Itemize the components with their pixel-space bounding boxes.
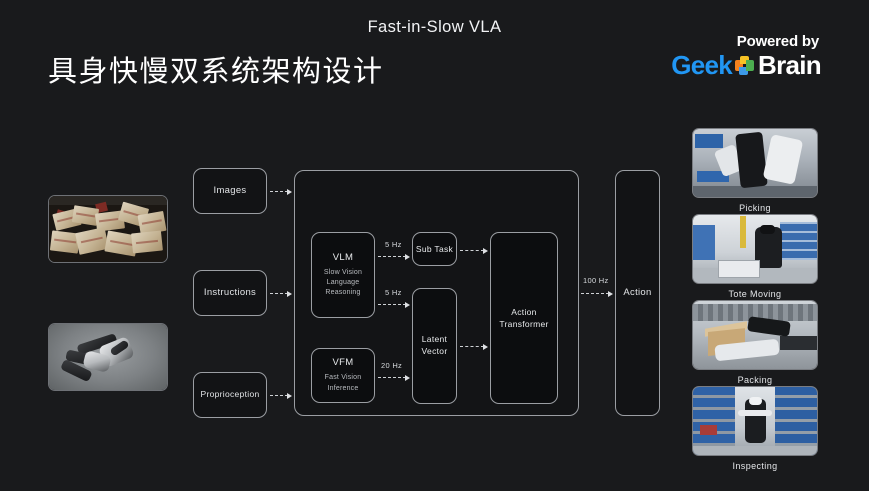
output-label-action: Action (623, 287, 651, 300)
input-box-instructions[interactable]: Instructions (193, 270, 267, 316)
arrow-instructions-to-vla (270, 293, 292, 294)
rate-label-vlm-to-latent-vector: 5 Hz (385, 288, 402, 297)
vfm-title: VFM (333, 357, 354, 368)
task-thumbnail-picking (692, 128, 818, 198)
block-action-transformer[interactable]: Action Transformer (490, 232, 558, 404)
block-vfm[interactable]: VFM Fast Vision Inference (311, 348, 375, 403)
input-label-proprioception: Proprioception (200, 389, 259, 400)
vla-title: Fast-in-Slow VLA (0, 18, 869, 37)
latent-vector-title: Latent Vector (422, 334, 448, 358)
block-vlm[interactable]: VLM Slow Vision Language Reasoning (311, 232, 375, 318)
block-sub-task[interactable]: Sub Task (412, 232, 457, 266)
block-latent-vector[interactable]: Latent Vector (412, 288, 457, 404)
task-caption-tote-moving: Tote Moving (692, 289, 818, 299)
arrow-latent-vector-to-action-transformer (460, 346, 488, 347)
arrow-vlm-to-latent-vector (378, 304, 410, 305)
brand-lockup: Powered by Geek Brain (671, 34, 821, 78)
task-card-tote-moving[interactable]: Tote Moving (692, 214, 818, 299)
task-thumbnail-tote-moving (692, 214, 818, 284)
brand-wordmark: Geek Brain (671, 52, 821, 78)
task-thumbnail-inspecting (692, 386, 818, 456)
vlm-title: VLM (333, 252, 353, 263)
arrow-vfm-to-latent-vector (378, 377, 410, 378)
action-transformer-title: Action Transformer (499, 306, 548, 331)
task-card-picking[interactable]: Picking (692, 128, 818, 213)
page-title: 具身快慢双系统架构设计 (48, 48, 384, 90)
output-box-action[interactable]: Action (615, 170, 660, 416)
robotic-gripper-photo (48, 323, 168, 391)
geek-wordmark: Geek (671, 52, 732, 78)
bin-of-cartons-photo (48, 195, 168, 263)
slide-canvas: 具身快慢双系统架构设计 Powered by Geek Brain (0, 0, 869, 491)
task-caption-picking: Picking (692, 203, 818, 213)
input-box-images[interactable]: Images (193, 168, 267, 214)
input-box-proprioception[interactable]: Proprioception (193, 372, 267, 418)
task-caption-packing: Packing (692, 375, 818, 385)
input-label-images: Images (214, 185, 247, 198)
arrow-vlm-to-sub-task (378, 256, 410, 257)
arrow-images-to-vla (270, 191, 292, 192)
input-label-instructions: Instructions (204, 287, 256, 300)
arrow-proprioception-to-vla (270, 395, 292, 396)
task-caption-inspecting: Inspecting (692, 461, 818, 471)
rate-label-vlm-to-sub-task: 5 Hz (385, 240, 402, 249)
vlm-subtitle: Slow Vision Language Reasoning (324, 268, 362, 298)
arrow-vla-to-action (581, 293, 613, 294)
brain-wordmark: Brain (758, 52, 821, 78)
vfm-subtitle: Fast Vision Inference (325, 373, 362, 393)
task-card-inspecting[interactable]: Inspecting (692, 386, 818, 471)
rate-label-vla-to-action: 100 Hz (583, 276, 609, 285)
plus-icon (735, 56, 754, 75)
sub-task-title: Sub Task (416, 244, 453, 254)
rate-label-vfm-to-latent-vector: 20 Hz (381, 361, 402, 370)
task-thumbnail-packing (692, 300, 818, 370)
arrow-sub-task-to-action-transformer (460, 250, 488, 251)
task-card-packing[interactable]: Packing (692, 300, 818, 385)
